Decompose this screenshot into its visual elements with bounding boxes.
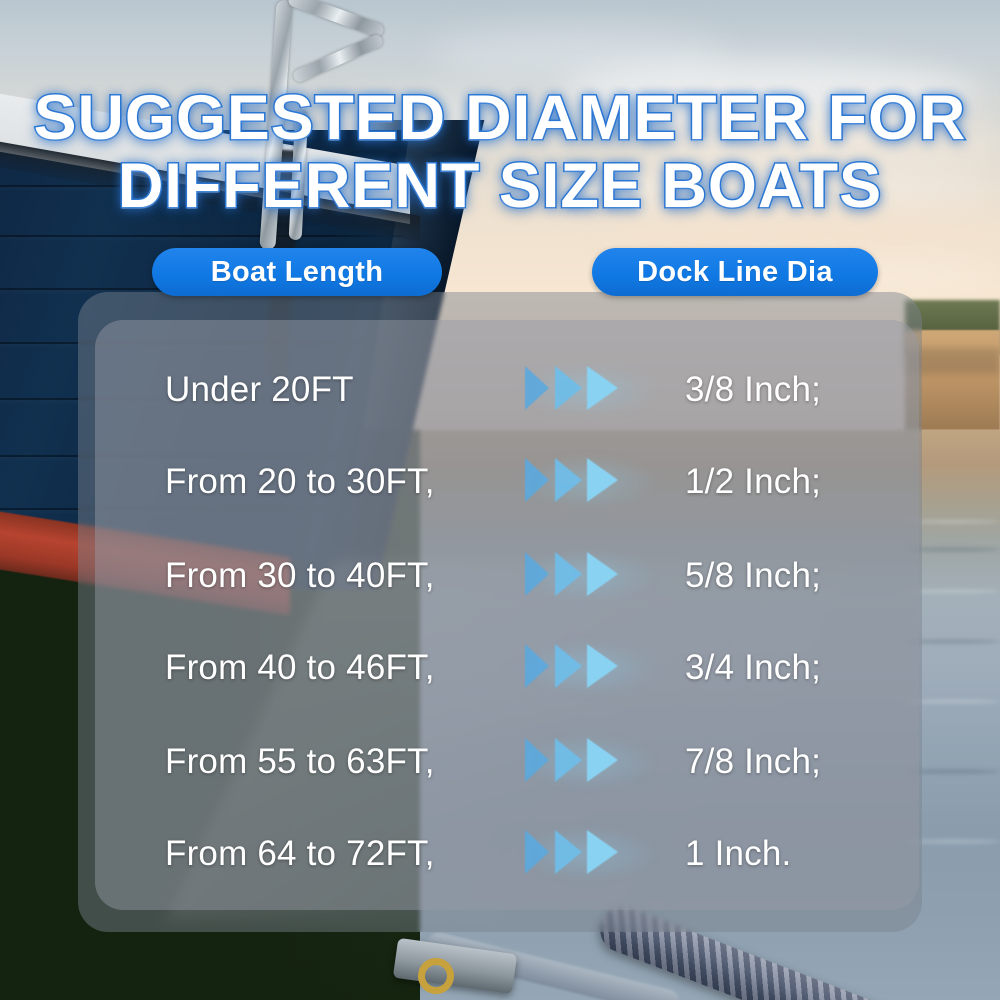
chevron-arrows-icon bbox=[525, 738, 655, 786]
chevron-arrows-icon bbox=[525, 830, 655, 878]
cell-dock-line-dia: 1/2 Inch; bbox=[685, 462, 935, 502]
cloud bbox=[560, 60, 980, 130]
chevron-arrows-icon bbox=[525, 366, 655, 414]
cell-boat-length: From 55 to 63FT, bbox=[165, 742, 545, 782]
cell-dock-line-dia: 7/8 Inch; bbox=[685, 742, 935, 782]
cloud bbox=[640, 120, 1000, 166]
cloud bbox=[500, 170, 1000, 210]
cell-dock-line-dia: 3/8 Inch; bbox=[685, 370, 935, 410]
table-row: From 40 to 46FT, 3/4 Inch; bbox=[95, 638, 919, 698]
cell-boat-length: Under 20FT bbox=[165, 370, 545, 410]
cell-boat-length: From 30 to 40FT, bbox=[165, 556, 545, 596]
cell-boat-length: From 64 to 72FT, bbox=[165, 834, 545, 874]
chevron-arrows-icon bbox=[525, 458, 655, 506]
cloud bbox=[600, 215, 1000, 249]
cell-dock-line-dia: 3/4 Inch; bbox=[685, 648, 935, 688]
table-row: Under 20FT 3/8 Inch; bbox=[95, 360, 919, 420]
cell-dock-line-dia: 5/8 Inch; bbox=[685, 556, 935, 596]
table-row: From 20 to 30FT, 1/2 Inch; bbox=[95, 452, 919, 512]
chevron-arrows-icon bbox=[525, 644, 655, 692]
cell-boat-length: From 20 to 30FT, bbox=[165, 462, 545, 502]
infographic-canvas: SUGGESTED DIAMETER FOR DIFFERENT SIZE BO… bbox=[0, 0, 1000, 1000]
comparison-table: Under 20FT 3/8 Inch; From 20 to 30FT, 1/… bbox=[95, 330, 919, 900]
chevron-arrows-icon bbox=[525, 552, 655, 600]
column-header-boat-length: Boat Length bbox=[152, 248, 442, 296]
cell-boat-length: From 40 to 46FT, bbox=[165, 648, 545, 688]
cell-dock-line-dia: 1 Inch. bbox=[685, 834, 935, 874]
table-row: From 30 to 40FT, 5/8 Inch; bbox=[95, 546, 919, 606]
table-row: From 55 to 63FT, 7/8 Inch; bbox=[95, 732, 919, 792]
table-row: From 64 to 72FT, 1 Inch. bbox=[95, 824, 919, 884]
column-header-dock-line-dia: Dock Line Dia bbox=[592, 248, 878, 296]
